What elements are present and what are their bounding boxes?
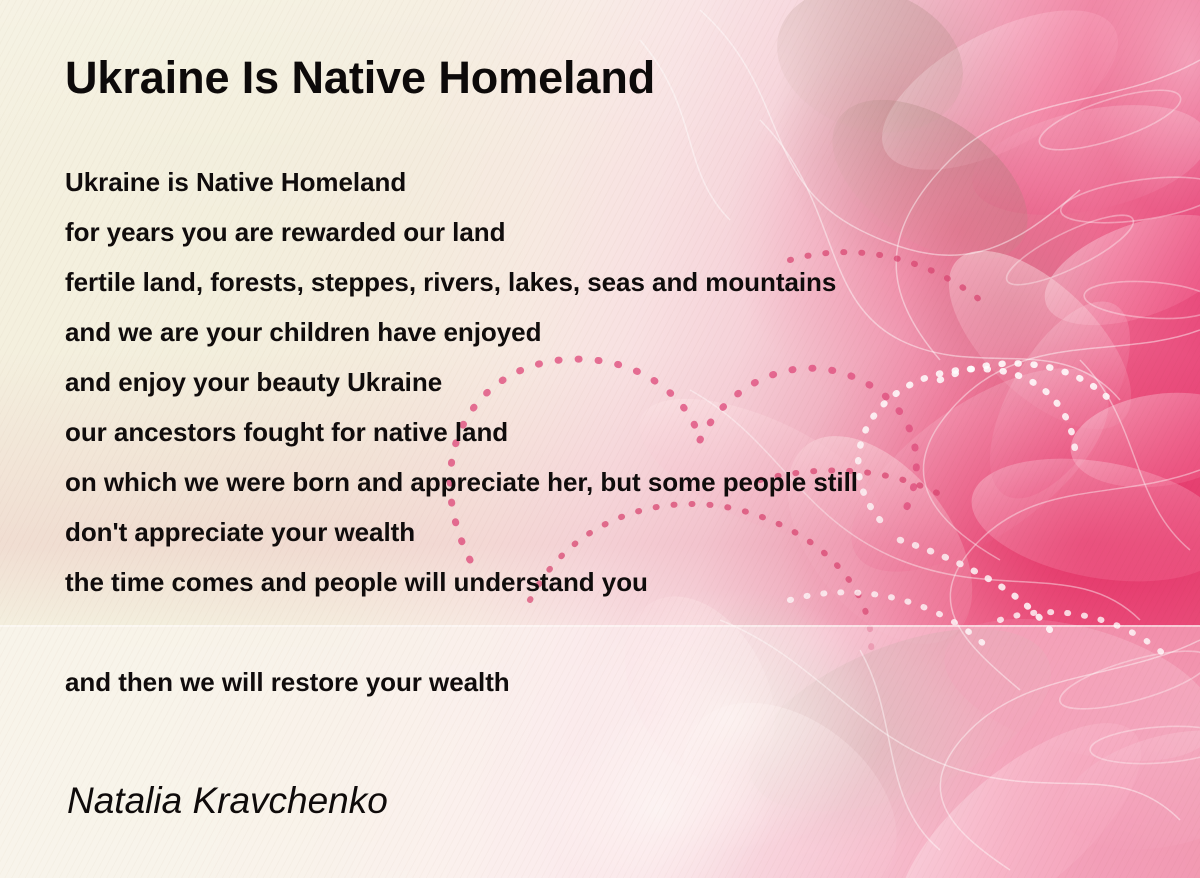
poem-line: fertile land, forests, steppes, rivers, … [65,257,1185,307]
poem-content: Ukraine Is Native Homeland Ukraine is Na… [0,0,1200,878]
poem-title: Ukraine Is Native Homeland [65,52,655,104]
poem-body: Ukraine is Native Homelandfor years you … [65,157,1185,707]
poem-line: our ancestors fought for native land [65,407,1185,457]
poem-author: Natalia Kravchenko [67,780,388,822]
poem-line: for years you are rewarded our land [65,207,1185,257]
poem-line: the time comes and people will understan… [65,557,1185,607]
poem-line: and enjoy your beauty Ukraine [65,357,1185,407]
poem-line-blank [65,607,1185,657]
poem-line: and we are your children have enjoyed [65,307,1185,357]
poem-line: Ukraine is Native Homeland [65,157,1185,207]
poem-card: Ukraine Is Native Homeland Ukraine is Na… [0,0,1200,878]
poem-line: on which we were born and appreciate her… [65,457,1185,507]
poem-line: and then we will restore your wealth [65,657,1185,707]
poem-line: don't appreciate your wealth [65,507,1185,557]
